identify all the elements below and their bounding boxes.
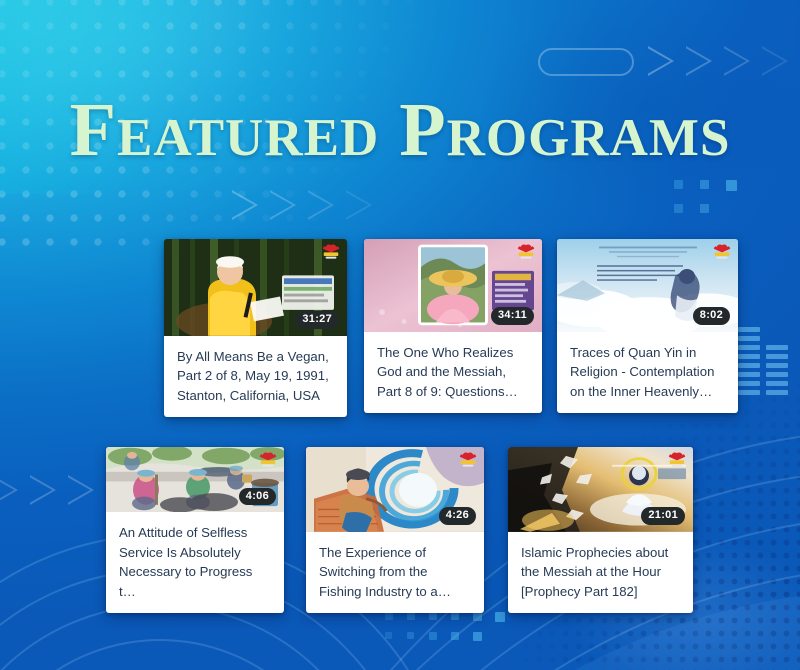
duration-badge: 8:02	[693, 307, 730, 325]
card-title[interactable]: An Attitude of Selfless Service Is Absol…	[106, 512, 284, 613]
program-card[interactable]: 8:02 Traces of Quan Yin in Religion - Co…	[557, 239, 738, 413]
program-card[interactable]: 4:26 The Experience of Switching from th…	[306, 447, 484, 613]
card-title[interactable]: The One Who Realizes God and the Messiah…	[364, 332, 542, 413]
brand-logo-icon	[258, 451, 278, 468]
brand-logo-icon	[712, 243, 732, 260]
card-thumbnail[interactable]: 34:11	[364, 239, 542, 332]
program-card-grid: 31:27 By All Means Be a Vegan, Part 2 of…	[0, 0, 800, 670]
duration-badge: 4:06	[239, 488, 276, 506]
card-thumbnail[interactable]: 8:02	[557, 239, 738, 332]
brand-logo-icon	[321, 243, 341, 260]
duration-badge: 4:26	[439, 507, 476, 525]
duration-badge: 34:11	[491, 307, 534, 325]
card-title[interactable]: By All Means Be a Vegan, Part 2 of 8, Ma…	[164, 336, 347, 417]
brand-logo-icon	[667, 451, 687, 468]
page-background: Featured Programs	[0, 0, 800, 670]
program-card[interactable]: 34:11 The One Who Realizes God and the M…	[364, 239, 542, 413]
brand-logo-icon	[516, 243, 536, 260]
card-title[interactable]: Islamic Prophecies about the Messiah at …	[508, 532, 693, 613]
duration-badge: 31:27	[295, 311, 339, 329]
card-thumbnail[interactable]: 21:01	[508, 447, 693, 532]
card-title[interactable]: Traces of Quan Yin in Religion - Contemp…	[557, 332, 738, 413]
card-thumbnail[interactable]: 4:06	[106, 447, 284, 512]
brand-logo-icon	[458, 451, 478, 468]
program-card[interactable]: 31:27 By All Means Be a Vegan, Part 2 of…	[164, 239, 347, 417]
card-title[interactable]: The Experience of Switching from the Fis…	[306, 532, 484, 613]
program-card[interactable]: 4:06 An Attitude of Selfless Service Is …	[106, 447, 284, 613]
card-thumbnail[interactable]: 4:26	[306, 447, 484, 532]
card-thumbnail[interactable]: 31:27	[164, 239, 347, 336]
program-card[interactable]: 21:01 Islamic Prophecies about the Messi…	[508, 447, 693, 613]
duration-badge: 21:01	[641, 507, 685, 525]
